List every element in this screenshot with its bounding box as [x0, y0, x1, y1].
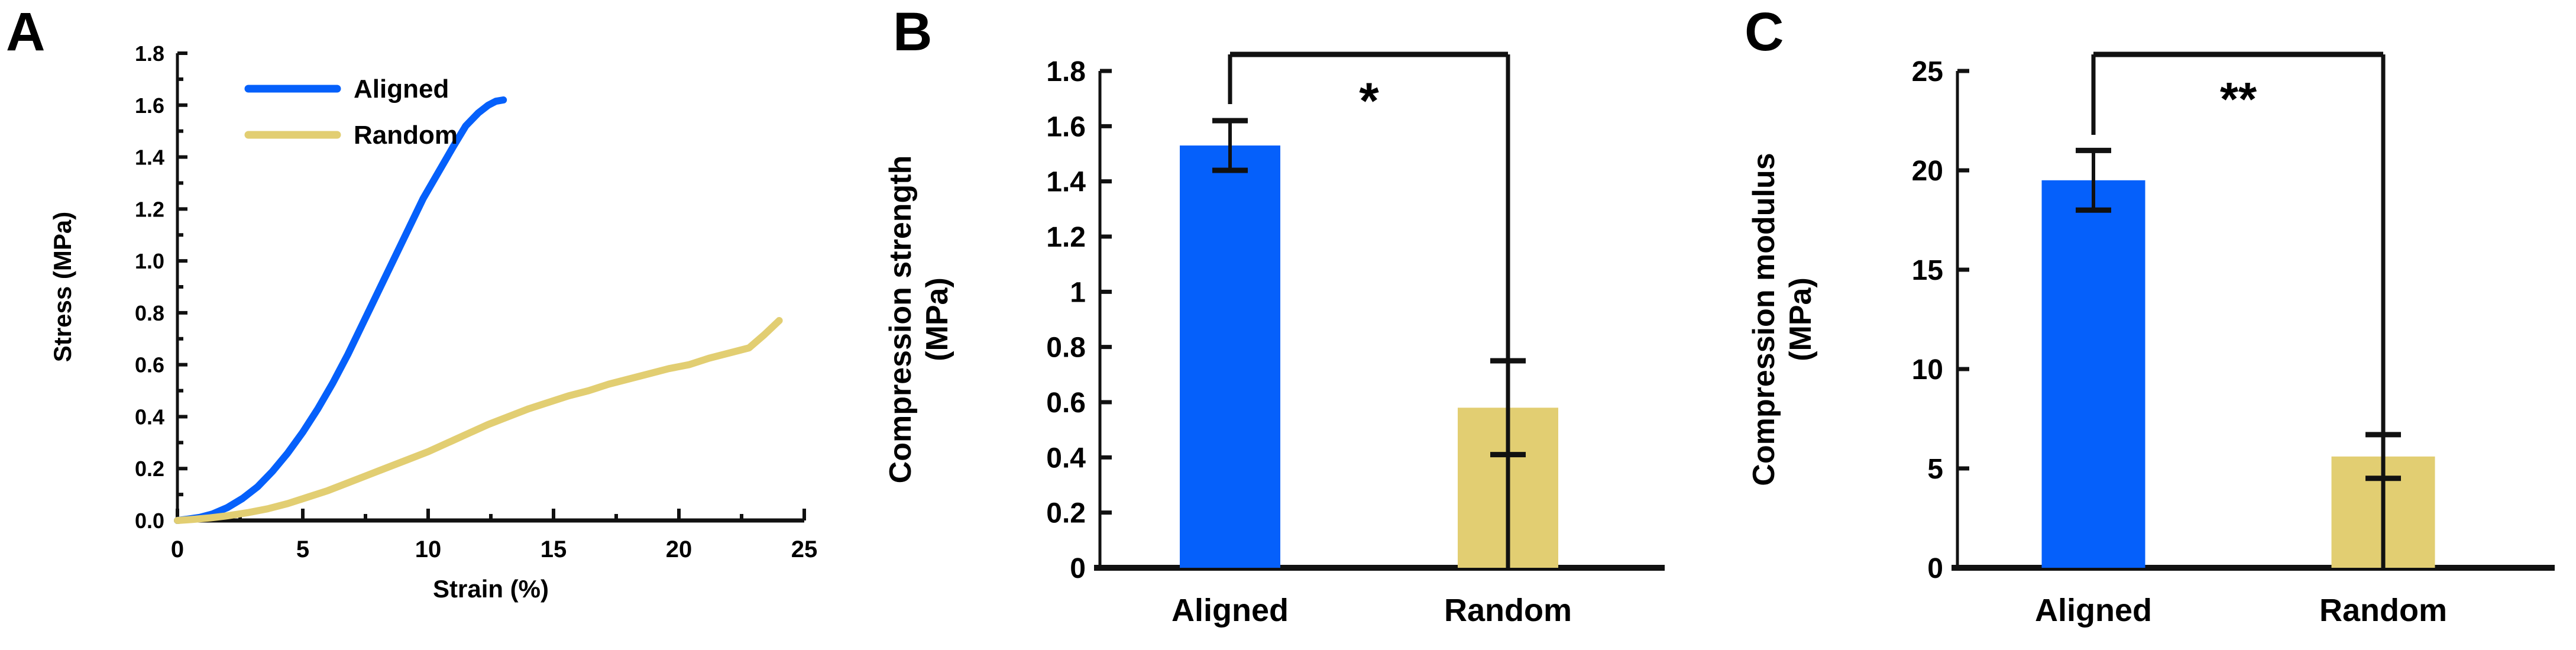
panel-c-y-tick-label: 10: [1912, 354, 1943, 386]
panel-a-y-tick-label: 0.4: [135, 405, 164, 429]
panel-b-y-tick-label: 1.4: [1046, 167, 1086, 198]
figure-root: A 0.00.20.40.60.81.01.21.41.61.805101520…: [0, 0, 2576, 650]
panel-a-y-axis-title: Stress (MPa): [48, 212, 76, 362]
panel-b-category-label-random: Random: [1444, 593, 1572, 628]
panel-c-plot: 0510152025Compression modulus(MPa)Aligne…: [1685, 0, 2576, 650]
panel-a-y-tick-label: 0.8: [135, 301, 164, 325]
panel-c-bar-aligned: [2042, 180, 2145, 568]
panel-c: C 0510152025Compression modulus(MPa)Alig…: [1685, 0, 2576, 650]
panel-a: A 0.00.20.40.60.81.01.21.41.61.805101520…: [0, 0, 840, 650]
panel-b-y-tick-label: 1: [1070, 277, 1086, 308]
panel-a-y-tick-label: 1.6: [135, 93, 164, 118]
panel-a-x-axis-title: Strain (%): [433, 575, 549, 603]
panel-b-y-tick-label: 1.2: [1046, 222, 1086, 253]
panel-c-significance-marker: **: [2220, 73, 2257, 125]
panel-b-significance-marker: *: [1359, 73, 1379, 130]
panel-b-y-tick-label: 1.6: [1046, 111, 1086, 143]
panel-a-y-tick-label: 1.2: [135, 197, 164, 221]
panel-a-legend-label-aligned: Aligned: [354, 75, 449, 104]
panel-c-y-axis-title-line2: (MPa): [1784, 277, 1818, 361]
panel-b-bar-aligned: [1180, 145, 1280, 568]
panel-b: B 00.20.40.60.811.21.41.61.8Compression …: [840, 0, 1685, 650]
panel-a-x-tick-label: 25: [791, 536, 818, 562]
panel-c-category-label-random: Random: [2319, 593, 2447, 628]
panel-a-y-tick-label: 0.2: [135, 457, 164, 481]
panel-a-y-tick-label: 0.6: [135, 353, 164, 377]
panel-a-y-tick-label: 0.0: [135, 509, 164, 533]
panel-b-y-tick-label: 0.6: [1046, 387, 1086, 419]
panel-c-category-label-aligned: Aligned: [2035, 593, 2152, 628]
panel-a-x-tick-label: 0: [171, 536, 184, 562]
panel-b-y-tick-label: 1.8: [1046, 56, 1086, 88]
panel-b-y-tick-label: 0: [1070, 553, 1086, 584]
panel-b-y-axis-title-line2: (MPa): [920, 277, 954, 361]
panel-a-y-tick-label: 1.8: [135, 41, 164, 66]
panel-a-legend-label-random: Random: [354, 121, 458, 150]
panel-a-x-tick-label: 5: [296, 536, 309, 562]
panel-a-series-aligned: [177, 100, 503, 520]
panel-a-plot: 0.00.20.40.60.81.01.21.41.61.80510152025…: [0, 0, 840, 650]
panel-c-y-tick-label: 5: [1927, 454, 1943, 485]
panel-c-y-tick-label: 0: [1927, 553, 1943, 584]
panel-b-y-tick-label: 0.8: [1046, 332, 1086, 364]
panel-a-y-tick-label: 1.4: [135, 145, 164, 170]
panel-c-y-tick-label: 20: [1912, 156, 1943, 187]
panel-b-y-axis-title-line1: Compression strength: [884, 156, 918, 484]
panel-a-y-tick-label: 1.0: [135, 249, 164, 273]
panel-a-x-tick-label: 15: [541, 536, 567, 562]
panel-a-series-random: [177, 321, 779, 520]
panel-b-y-tick-label: 0.2: [1046, 498, 1086, 529]
panel-b-category-label-aligned: Aligned: [1172, 593, 1289, 628]
panel-b-y-tick-label: 0.4: [1046, 442, 1086, 474]
panel-a-x-tick-label: 20: [666, 536, 692, 562]
panel-a-x-tick-label: 10: [415, 536, 442, 562]
panel-c-y-axis-title-line1: Compression modulus: [1747, 153, 1781, 486]
panel-c-y-tick-label: 25: [1912, 56, 1943, 88]
panel-b-plot: 00.20.40.60.811.21.41.61.8Compression st…: [840, 0, 1685, 650]
panel-c-y-tick-label: 15: [1912, 255, 1943, 286]
